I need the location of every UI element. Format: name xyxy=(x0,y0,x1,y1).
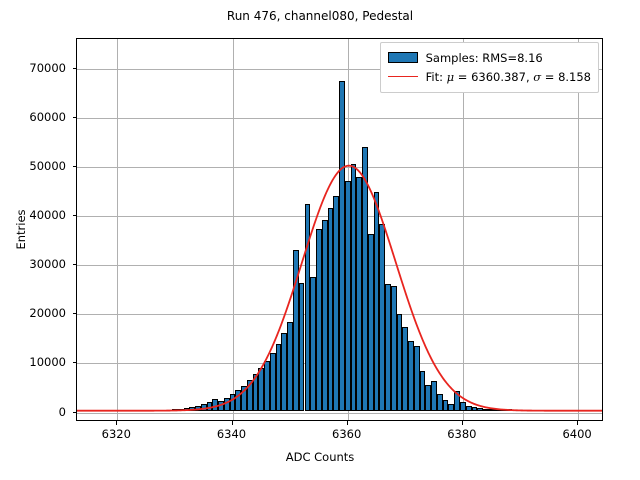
histogram-bars xyxy=(77,39,602,420)
x-tick-label: 6380 xyxy=(447,427,476,441)
y-tickmark xyxy=(73,68,77,69)
x-tick-label: 6360 xyxy=(332,427,361,441)
x-tickmark xyxy=(232,421,233,425)
x-tick-label: 6400 xyxy=(562,427,591,441)
y-tick-label: 70000 xyxy=(29,61,66,75)
y-tickmark xyxy=(73,215,77,216)
x-tick-label: 6340 xyxy=(217,427,246,441)
x-axis-label: ADC Counts xyxy=(0,450,640,464)
y-tickmark xyxy=(73,362,77,363)
legend: Samples: RMS=8.16 Fit: μ = 6360.387, σ =… xyxy=(380,42,599,93)
y-axis-label: Entries xyxy=(14,38,28,421)
x-tickmark xyxy=(116,421,117,425)
page-title: Run 476, channel080, Pedestal xyxy=(0,9,640,23)
y-tickmark xyxy=(73,412,77,413)
y-tick-label: 0 xyxy=(59,405,66,419)
legend-item-samples: Samples: RMS=8.16 xyxy=(388,48,591,67)
y-tick-label: 10000 xyxy=(29,355,66,369)
y-tick-label: 50000 xyxy=(29,159,66,173)
y-tickmark xyxy=(73,166,77,167)
y-tick-label: 20000 xyxy=(29,306,66,320)
x-tick-label: 6320 xyxy=(102,427,131,441)
legend-patch-icon xyxy=(388,52,418,63)
figure-canvas: Run 476, channel080, Pedestal 0100002000… xyxy=(0,0,640,480)
legend-line-icon xyxy=(388,76,418,77)
y-tick-label: 30000 xyxy=(29,257,66,271)
y-tick-label: 40000 xyxy=(29,208,66,222)
x-tickmark xyxy=(462,421,463,425)
y-tickmark xyxy=(73,117,77,118)
legend-label-fit: Fit: μ = 6360.387, σ = 8.158 xyxy=(426,70,591,84)
y-tickmark xyxy=(73,313,77,314)
x-tickmark xyxy=(577,421,578,425)
y-tickmark xyxy=(73,264,77,265)
y-tick-label: 60000 xyxy=(29,110,66,124)
x-axis-tick-labels: 63206340636063806400 xyxy=(0,427,640,447)
legend-label-samples: Samples: RMS=8.16 xyxy=(426,51,543,65)
bar xyxy=(506,409,512,411)
plot-axes xyxy=(76,38,603,421)
y-axis-tick-labels: 010000200003000040000500006000070000 xyxy=(0,0,66,480)
x-tickmark xyxy=(347,421,348,425)
legend-item-fit: Fit: μ = 6360.387, σ = 8.158 xyxy=(388,67,591,86)
